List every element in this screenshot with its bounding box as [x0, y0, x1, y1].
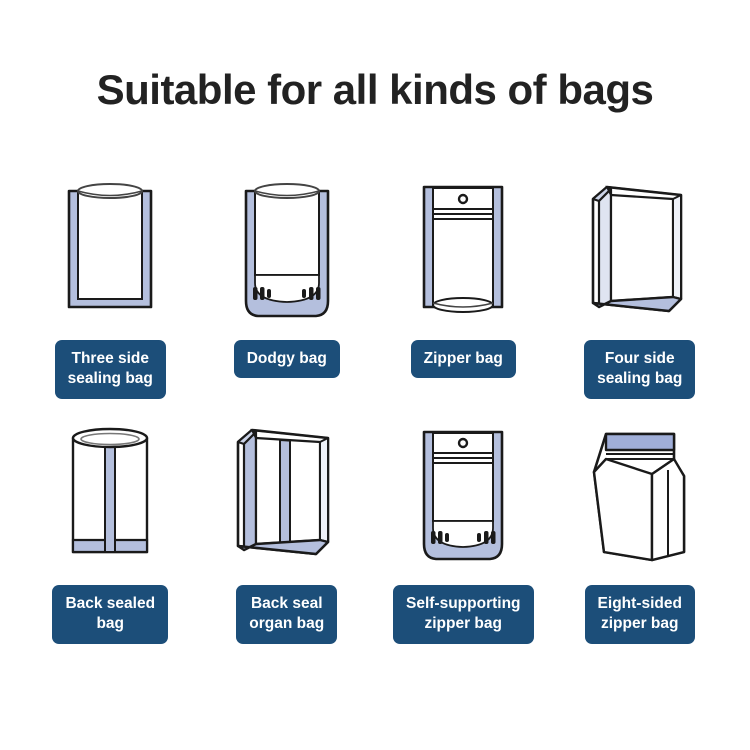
bag-label-dodgy-bag: Dodgy bag: [234, 340, 340, 378]
eight-sided-zipper-bag-icon: [552, 405, 729, 585]
bag-label-four-side-sealing-bag: Four side sealing bag: [584, 340, 695, 399]
bag-type-grid: Three side sealing bag Do: [22, 160, 728, 650]
back-seal-organ-bag-icon: [199, 405, 376, 585]
bag-label-eight-sided-zipper-bag: Eight-sided zipper bag: [585, 585, 695, 644]
dodgy-bag-icon: [199, 160, 376, 340]
bag-card-back-seal-organ-bag[interactable]: Back seal organ bag: [199, 405, 376, 650]
bag-card-three-side-sealing-bag[interactable]: Three side sealing bag: [22, 160, 199, 405]
bag-label-self-supporting-zipper-bag: Self-supporting zipper bag: [393, 585, 534, 644]
three-side-sealing-bag-icon: [22, 160, 199, 340]
self-supporting-zipper-bag-icon: [375, 405, 552, 585]
four-side-sealing-bag-icon: [552, 160, 729, 340]
back-sealed-bag-icon: [22, 405, 199, 585]
bag-card-back-sealed-bag[interactable]: Back sealed bag: [22, 405, 199, 650]
bag-card-eight-sided-zipper-bag[interactable]: Eight-sided zipper bag: [552, 405, 729, 650]
infographic-page: Suitable for all kinds of bags Three sid…: [0, 0, 750, 750]
bag-label-back-sealed-bag: Back sealed bag: [52, 585, 168, 644]
bag-label-back-seal-organ-bag: Back seal organ bag: [236, 585, 337, 644]
zipper-bag-icon: [375, 160, 552, 340]
bag-card-self-supporting-zipper-bag[interactable]: Self-supporting zipper bag: [375, 405, 552, 650]
bag-card-zipper-bag: Zipper bag: [375, 160, 552, 405]
bag-label-zipper-bag: Zipper bag: [411, 340, 516, 378]
bag-card-dodgy-bag[interactable]: Dodgy bag: [199, 160, 376, 405]
bag-card-four-side-sealing-bag[interactable]: Four side sealing bag: [552, 160, 729, 405]
bag-label-three-side-sealing-bag: Three side sealing bag: [55, 340, 166, 399]
page-title: Suitable for all kinds of bags: [0, 66, 750, 114]
